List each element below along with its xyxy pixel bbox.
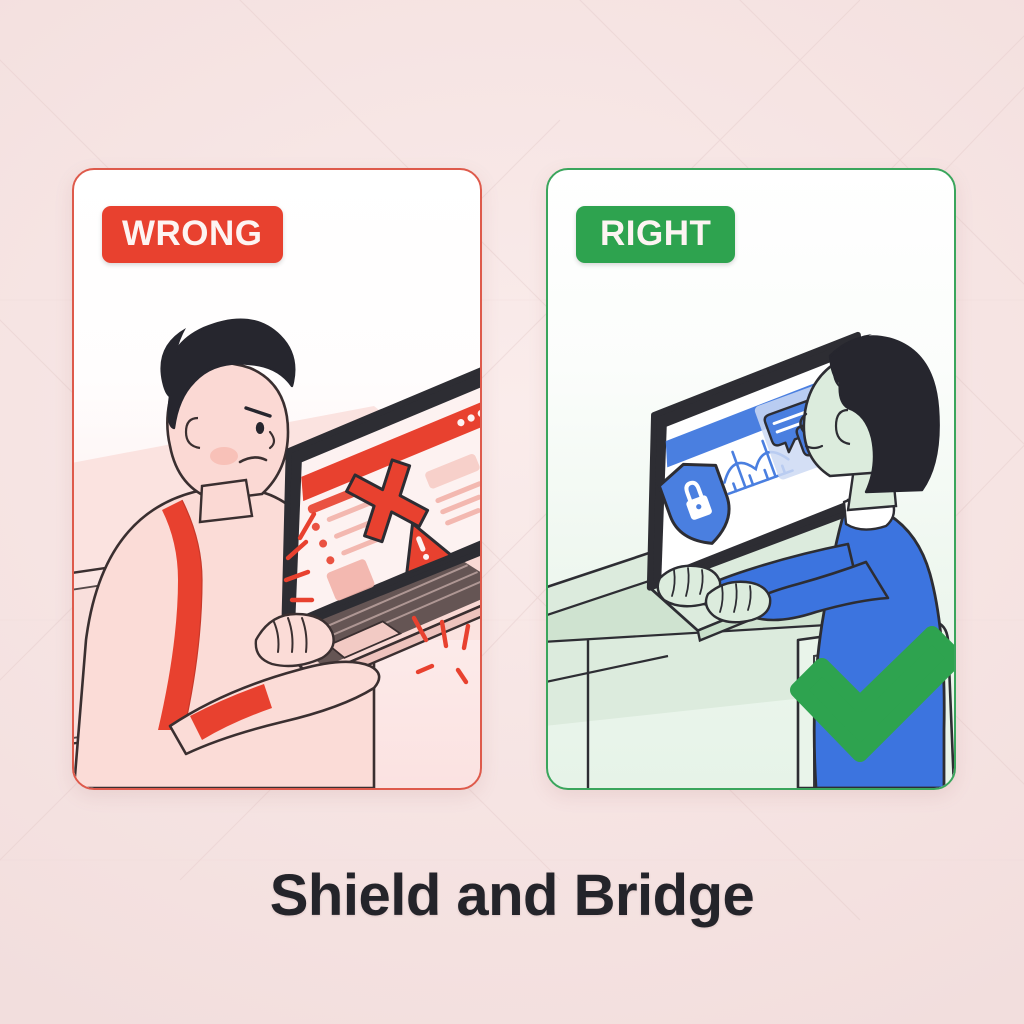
panel-right: RIGHT: [546, 168, 956, 790]
panel-wrong: WRONG: [72, 168, 482, 790]
illustration-canvas: WRONG: [0, 0, 1024, 1024]
badge-right: RIGHT: [576, 206, 735, 263]
page-title: Shield and Bridge: [0, 862, 1024, 929]
badge-wrong: WRONG: [102, 206, 283, 263]
